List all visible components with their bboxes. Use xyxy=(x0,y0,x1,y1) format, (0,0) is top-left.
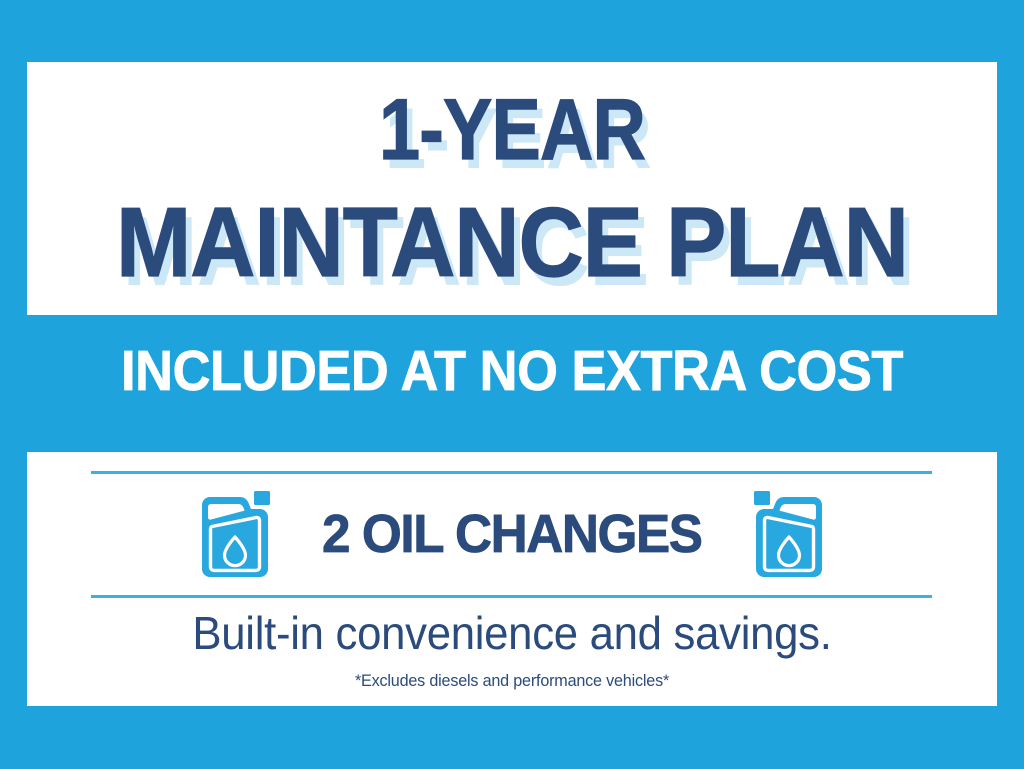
divider-bottom xyxy=(91,595,932,598)
subtitle-banner: INCLUDED AT NO EXTRA COST xyxy=(41,340,983,402)
footnote-disclaimer: *Excludes diesels and performance vehicl… xyxy=(51,671,973,691)
feature-label: 2 OIL CHANGES xyxy=(322,505,702,563)
tagline: Built-in convenience and savings. xyxy=(51,607,973,659)
oil-jug-icon xyxy=(752,489,826,579)
maintenance-plan-poster: 1-YEAR MAINTANCE PLAN INCLUDED AT NO EXT… xyxy=(0,0,1024,769)
detail-card: 2 OIL CHANGES Built-in convenience and s… xyxy=(27,452,997,706)
headline-line-1: 1-YEAR xyxy=(95,84,929,176)
feature-row: 2 OIL CHANGES xyxy=(27,476,997,592)
divider-top xyxy=(91,471,932,474)
headline-line-2: MAINTANCE PLAN xyxy=(66,190,958,294)
headline-card: 1-YEAR MAINTANCE PLAN xyxy=(27,62,997,315)
oil-jug-icon xyxy=(198,489,272,579)
